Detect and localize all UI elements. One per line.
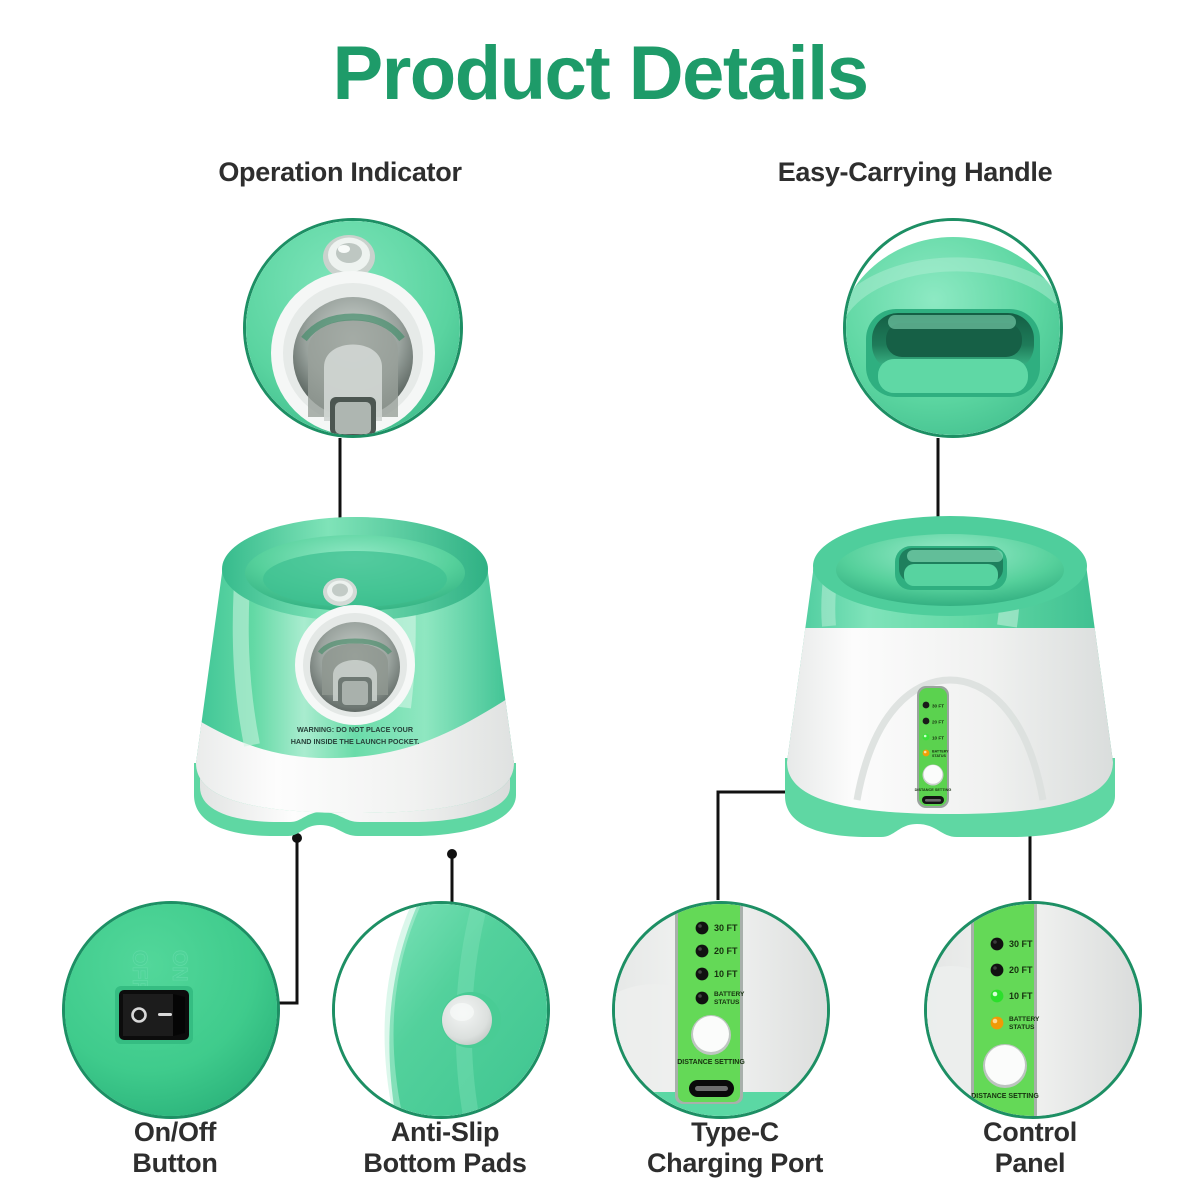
warning-line-2: HAND INSIDE THE LAUNCH POCKET. (291, 737, 420, 746)
led-label-line-1: BATTERY (714, 991, 745, 998)
caption-line: Easy-Carrying Handle (705, 157, 1125, 188)
led-label: 20 FT (1009, 965, 1033, 975)
detail-art-type-c: 30 FT 20 FT 10 FT BATTERY STATUS (615, 904, 827, 1116)
distance-setting-button[interactable] (983, 1044, 1027, 1088)
led-label-line-1: BATTERY (932, 750, 949, 754)
infographic-canvas: Product Details Operation Indicator Easy… (0, 0, 1200, 1200)
detail-art-control-panel: 30 FT 20 FT 10 FT BATTERY STATUS (927, 904, 1139, 1116)
led-row-20ft: 20 FT (991, 964, 1033, 977)
carry-handle (866, 309, 1040, 397)
led-label: 30 FT (714, 923, 738, 933)
launch-pocket (295, 605, 415, 725)
caption-line: Control (880, 1117, 1180, 1148)
caption-operation-indicator: Operation Indicator (130, 157, 550, 188)
distance-setting-button[interactable] (691, 1015, 731, 1055)
led-label: 20 FT (714, 946, 738, 956)
detail-art-handle (846, 221, 1060, 435)
distance-setting-button[interactable] (923, 765, 944, 786)
distance-setting-label: DISTANCE SETTING (915, 788, 952, 792)
control-panel-strip[interactable]: 30 FT 20 FT 10 FT BATTERY STATUS (971, 904, 1040, 1116)
warning-line-1: WARNING: DO NOT PLACE YOUR (297, 725, 414, 734)
switch-on-label: ON (168, 950, 191, 982)
detail-circle-control-panel: 30 FT 20 FT 10 FT BATTERY STATUS (924, 901, 1142, 1119)
detail-art-operation-indicator (246, 221, 460, 435)
distance-setting-label: DISTANCE SETTING (677, 1059, 745, 1066)
detail-circle-type-c-charging-port: 30 FT 20 FT 10 FT BATTERY STATUS (612, 901, 830, 1119)
caption-line: Anti-Slip (295, 1117, 595, 1148)
product-bowl-shadow (263, 551, 447, 607)
led-label: 20 FT (932, 720, 944, 725)
caption-anti-slip-bottom-pads: Anti-Slip Bottom Pads (295, 1117, 595, 1179)
usb-c-port (922, 796, 944, 804)
anti-slip-pad (441, 992, 501, 1048)
led-row-10ft: 10 FT (991, 990, 1033, 1003)
launch-pocket (271, 271, 435, 435)
detail-art-on-off: OFF ON (65, 904, 277, 1116)
caption-control-panel: Control Panel (880, 1117, 1180, 1179)
led-row-30ft: 30 FT (991, 938, 1033, 951)
detail-art-anti-slip-pads (335, 904, 547, 1116)
product-back-view: 30 FT 20 FT 10 FT BATTERY STATUS (765, 500, 1135, 870)
control-panel-strip[interactable]: 30 FT 20 FT 10 FT BATTERY STATUS (675, 904, 745, 1104)
operation-indicator-sensor (323, 578, 357, 606)
rocker-switch[interactable] (115, 986, 193, 1044)
switch-off-label: OFF (128, 950, 151, 992)
carry-handle (895, 546, 1007, 590)
detail-circle-on-off-button: OFF ON (62, 901, 280, 1119)
led-label-line-2: STATUS (1009, 1024, 1035, 1031)
caption-line: Button (25, 1148, 325, 1179)
caption-line: Charging Port (585, 1148, 885, 1179)
caption-line: Bottom Pads (295, 1148, 595, 1179)
detail-circle-operation-indicator (243, 218, 463, 438)
caption-line: Operation Indicator (130, 157, 550, 188)
caption-on-off-button: On/Off Button (25, 1117, 325, 1179)
page-title: Product Details (0, 36, 1200, 112)
led-row-30ft: 30 FT (696, 922, 738, 935)
led-row-20ft: 20 FT (923, 718, 945, 725)
led-label-line-1: BATTERY (1009, 1016, 1040, 1023)
switch-symbol-on (158, 1013, 172, 1016)
product-front-view: WARNING: DO NOT PLACE YOUR HAND INSIDE T… (170, 495, 540, 865)
caption-easy-carrying-handle: Easy-Carrying Handle (705, 157, 1125, 188)
led-row-10ft: 10 FT (696, 968, 738, 981)
led-label: 10 FT (714, 969, 738, 979)
led-row-20ft: 20 FT (696, 945, 738, 958)
led-label: 30 FT (1009, 939, 1033, 949)
product-control-panel[interactable]: 30 FT 20 FT 10 FT BATTERY STATUS (915, 686, 952, 808)
led-row-10ft: 10 FT (923, 734, 945, 741)
led-label-line-2: STATUS (932, 754, 946, 758)
led-row-30ft: 30 FT (923, 702, 945, 709)
caption-line: Type-C (585, 1117, 885, 1148)
led-row-battery-status: BATTERY STATUS (991, 1016, 1040, 1031)
caption-line: On/Off (25, 1117, 325, 1148)
usb-c-port (689, 1080, 734, 1097)
detail-circle-anti-slip-bottom-pads (332, 901, 550, 1119)
led-label: 10 FT (1009, 991, 1033, 1001)
led-label: 30 FT (932, 704, 944, 709)
led-label: 10 FT (932, 736, 944, 741)
detail-circle-easy-carrying-handle (843, 218, 1063, 438)
led-row-battery-status: BATTERY STATUS (696, 991, 745, 1006)
caption-line: Panel (880, 1148, 1180, 1179)
distance-setting-label: DISTANCE SETTING (971, 1093, 1039, 1100)
caption-type-c-charging-port: Type-C Charging Port (585, 1117, 885, 1179)
led-label-line-2: STATUS (714, 999, 740, 1006)
